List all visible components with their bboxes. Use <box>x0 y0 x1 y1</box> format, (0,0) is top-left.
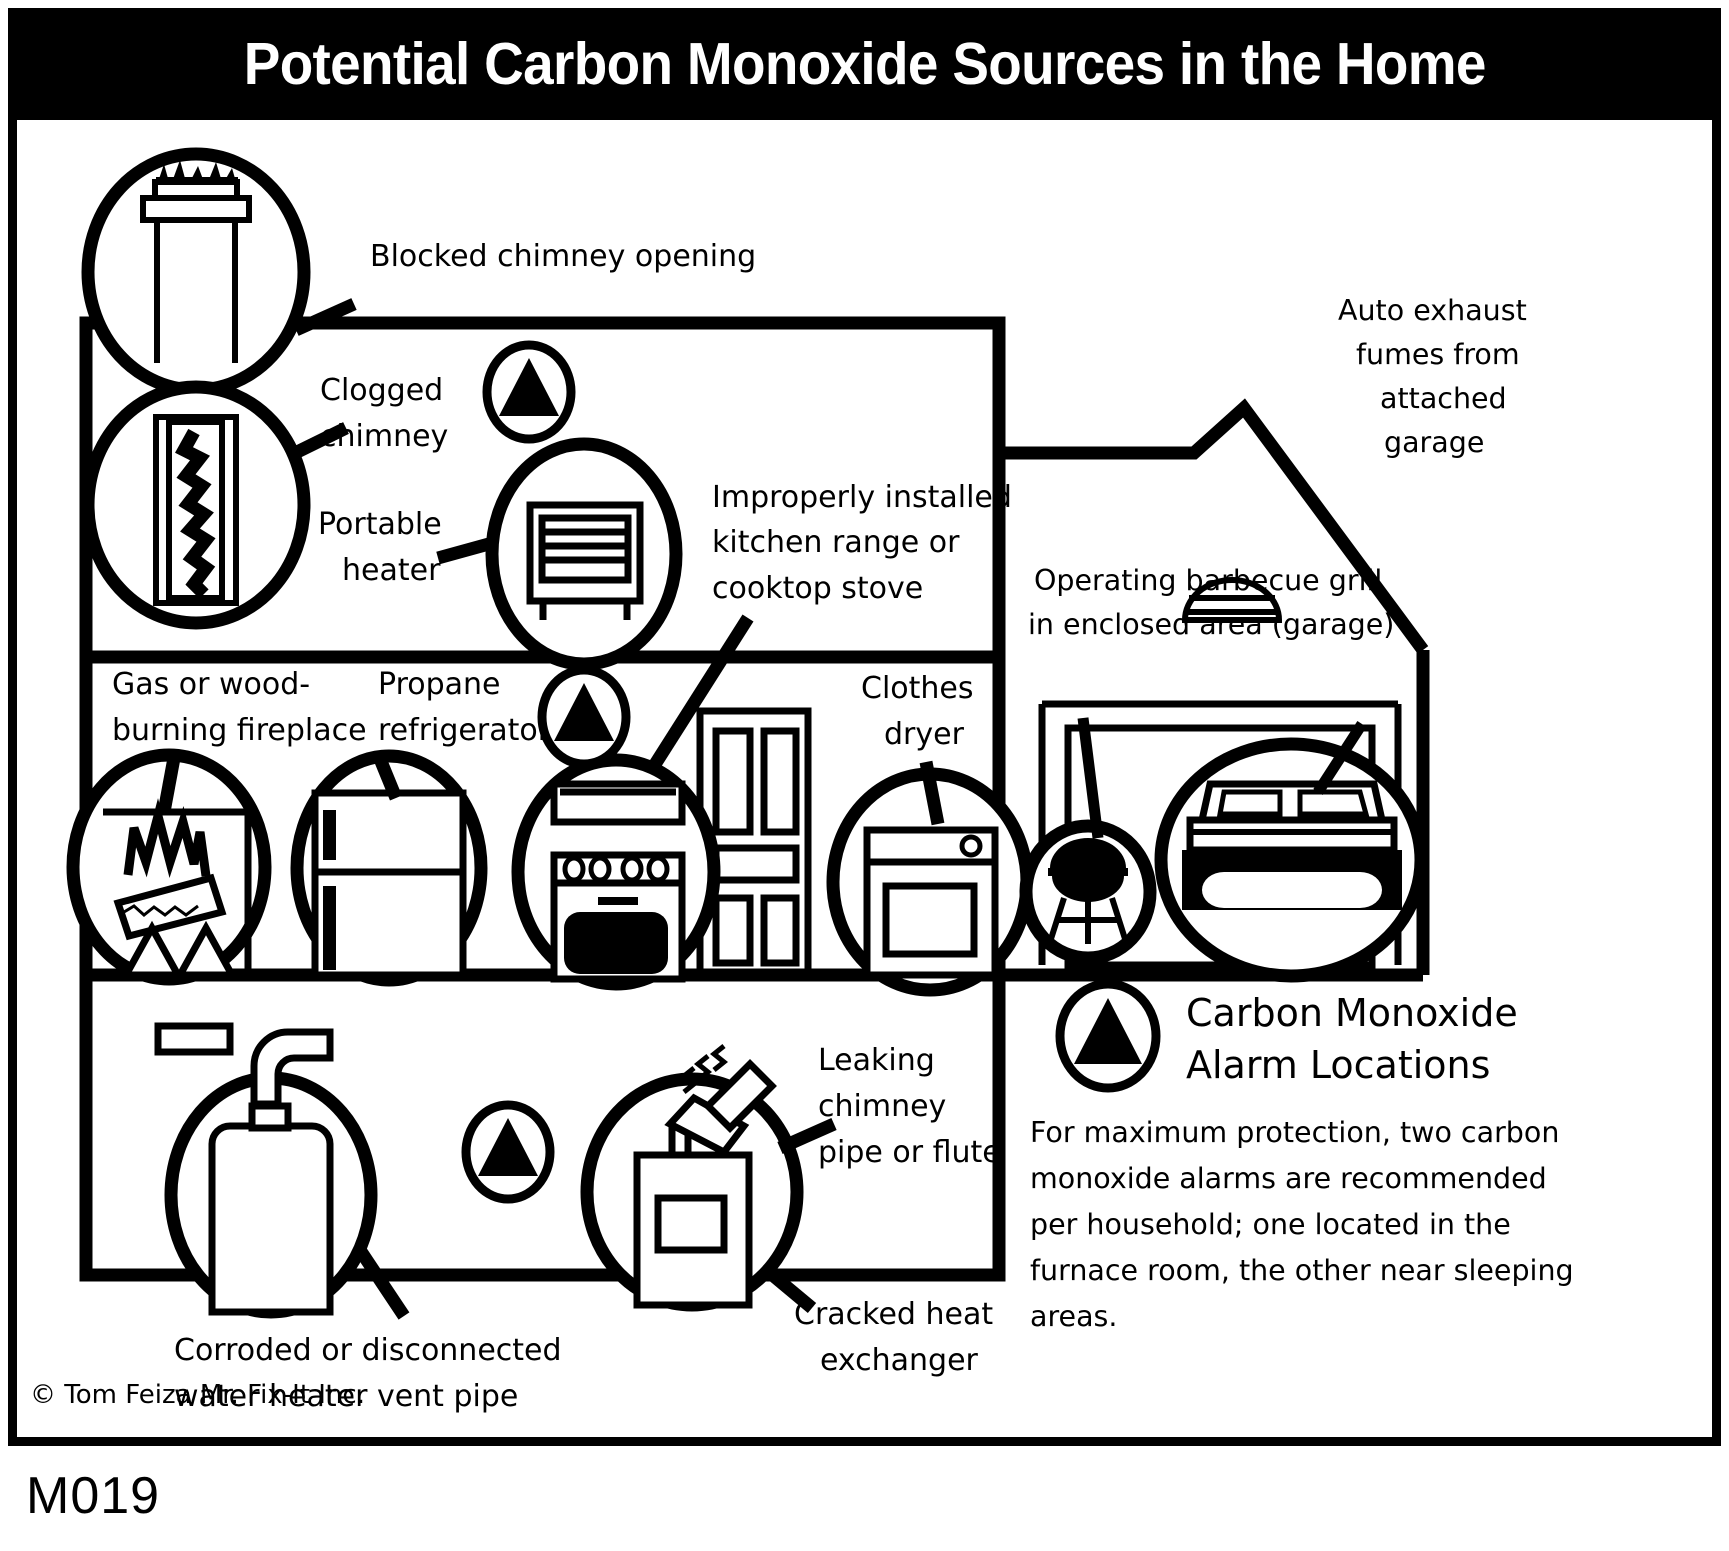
alarm-basement <box>466 1105 550 1199</box>
label-blocked-chimney-opening: Blocked chimney opening <box>370 239 756 274</box>
label-fireplace-2: burning fireplace <box>112 713 367 748</box>
alarm-upper-floor <box>487 345 571 439</box>
label-barbecue-grill-1: Operating barbecue grill <box>1034 564 1382 597</box>
label-portable-heater-1: Portable <box>318 507 442 542</box>
label-auto-exhaust-1: Auto exhaust <box>1338 294 1527 327</box>
label-propane-refrigerator-2: refrigerator <box>378 713 551 748</box>
label-kitchen-range-2: kitchen range or <box>712 525 960 560</box>
label-barbecue-grill-2: in enclosed area (garage) <box>1028 608 1394 641</box>
label-kitchen-range-3: cooktop stove <box>712 571 923 606</box>
label-water-heater-vent-1: Corroded or disconnected <box>174 1333 562 1368</box>
callout-blocked-chimney-opening <box>88 154 354 390</box>
figure-code: M019 <box>26 1466 160 1526</box>
dryer-knob-icon <box>962 837 980 855</box>
label-fireplace-1: Gas or wood- <box>112 667 310 702</box>
legend-body-5: areas. <box>1030 1300 1117 1333</box>
label-clothes-dryer-2: dryer <box>884 717 965 752</box>
label-leaking-flue-2: chimney <box>818 1089 946 1124</box>
legend-body-3: per household; one located in the <box>1030 1208 1511 1241</box>
label-leaking-flue-1: Leaking <box>818 1043 935 1078</box>
callout-clothes-dryer <box>833 762 1027 990</box>
label-auto-exhaust-3: attached <box>1380 382 1507 415</box>
label-clogged-chimney-1: Clogged <box>320 373 443 408</box>
legend-heading-2: Alarm Locations <box>1186 1043 1490 1087</box>
label-clogged-chimney-2: chimney <box>320 419 448 454</box>
title-band: Potential Carbon Monoxide Sources in the… <box>8 8 1721 120</box>
leader-line <box>360 1250 404 1316</box>
label-clothes-dryer-1: Clothes <box>861 671 974 706</box>
callout-fireplace <box>73 755 265 979</box>
legend-heading-1: Carbon Monoxide <box>1186 991 1518 1035</box>
label-heat-exchanger-1: Cracked heat <box>794 1297 993 1332</box>
alarm-main-floor <box>542 670 626 764</box>
car-icon <box>1182 784 1402 910</box>
freezer-handle-icon <box>323 810 336 860</box>
label-heat-exchanger-2: exchanger <box>820 1343 979 1378</box>
label-portable-heater-2: heater <box>342 553 441 588</box>
page-title: Potential Carbon Monoxide Sources in the… <box>243 35 1485 94</box>
poster-canvas: Potential Carbon Monoxide Sources in the… <box>0 0 1729 1551</box>
legend-body-4: furnace room, the other near sleeping <box>1030 1254 1574 1287</box>
callout-clogged-chimney <box>88 387 346 623</box>
callout-auto-exhaust <box>1161 724 1421 976</box>
flue-pipe-icon <box>158 1026 230 1052</box>
legend-body-1: For maximum protection, two carbon <box>1030 1116 1559 1149</box>
label-auto-exhaust-2: fumes from <box>1356 338 1520 371</box>
callout-propane-refrigerator <box>297 754 481 980</box>
diagram-area: Blocked chimney opening Clogged chimney <box>8 120 1721 1446</box>
legend-symbol <box>1060 984 1156 1088</box>
legend-body-2: monoxide alarms are recommended <box>1030 1162 1547 1195</box>
callout-kitchen-range <box>518 760 714 984</box>
label-leaking-flue-3: pipe or flute <box>818 1135 1001 1170</box>
copyright-credit: © Tom Feiza Mr. Fix-It Inc. <box>30 1380 365 1410</box>
oven-window-icon <box>564 912 668 974</box>
label-auto-exhaust-4: garage <box>1384 426 1484 459</box>
fridge-handle-icon <box>323 886 336 970</box>
leader-line-kitchen-range <box>640 618 748 788</box>
callout-portable-heater <box>438 444 676 664</box>
oven-handle-icon <box>598 897 638 905</box>
label-propane-refrigerator-1: Propane <box>378 667 501 702</box>
label-kitchen-range-1: Improperly installed <box>712 480 1012 515</box>
